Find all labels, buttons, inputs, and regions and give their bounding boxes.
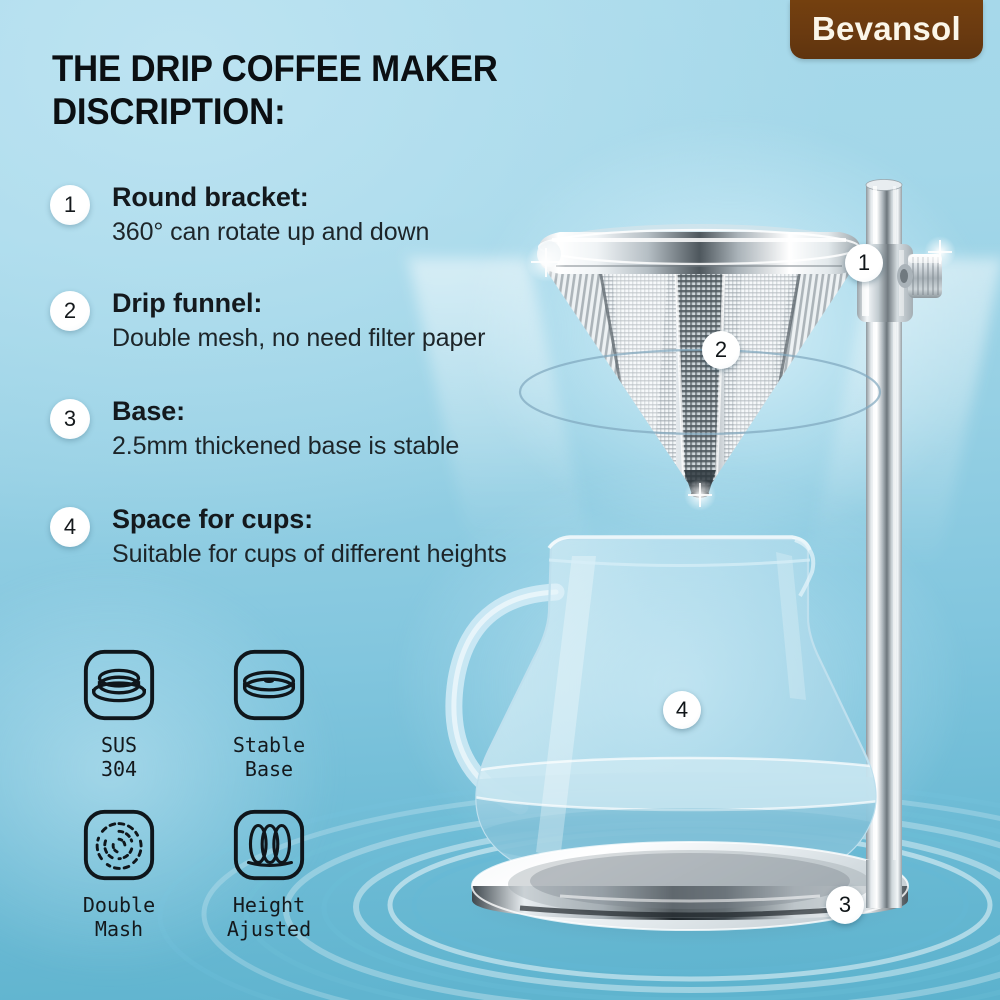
mesh-screen-icon [80, 806, 158, 884]
feature-description: Double mesh, no need filter paper [112, 323, 668, 353]
feature-title: Space for cups: [112, 504, 668, 536]
spec-badge-stable-base: Stable Base [194, 646, 344, 782]
feature-number-badge: 1 [50, 185, 90, 225]
feature-item-drip-funnel: 2 Drip funnel: Double mesh, no need filt… [48, 288, 668, 372]
spec-badge-height-ajusted: Height Ajusted [194, 806, 344, 942]
spec-badge-double-mash: Double Mash [44, 806, 194, 942]
spec-label: Height Ajusted [227, 893, 311, 942]
callout-marker-base: 3 [826, 886, 864, 924]
light-beam-right [807, 258, 1000, 568]
flat-disc-icon [230, 646, 308, 724]
brand-badge: Bevansol [790, 0, 983, 59]
feature-item-space-for-cups: 4 Space for cups: Suitable for cups of d… [48, 504, 668, 588]
stacked-disc-icon [80, 646, 158, 724]
feature-item-round-bracket: 1 Round bracket: 360° can rotate up and … [48, 182, 668, 266]
spec-label: Stable Base [233, 733, 305, 782]
spec-badge-sus-304: SUS 304 [44, 646, 194, 782]
feature-title: Round bracket: [112, 182, 668, 214]
callout-marker-drip-funnel: 2 [702, 331, 740, 369]
page-title: THE DRIP COFFEE MAKER DISCRIPTION: [52, 48, 635, 134]
feature-description: 2.5mm thickened base is stable [112, 431, 668, 461]
support-pole [866, 180, 902, 906]
feature-title: Drip funnel: [112, 288, 668, 320]
spec-badge-grid: SUS 304 Stable Base [44, 646, 344, 942]
feature-number-badge: 3 [50, 399, 90, 439]
feature-item-base: 3 Base: 2.5mm thickened base is stable [48, 396, 668, 480]
callout-marker-glass-carafe: 4 [663, 691, 701, 729]
feature-number-badge: 4 [50, 507, 90, 547]
pole-foot [866, 860, 902, 908]
callout-marker-round-bracket: 1 [845, 244, 883, 282]
feature-number-badge: 2 [50, 291, 90, 331]
feature-description: 360° can rotate up and down [112, 217, 668, 247]
feature-title: Base: [112, 396, 668, 428]
feature-description: Suitable for cups of different heights [112, 539, 668, 569]
infographic-page: Bevansol THE DRIP COFFEE MAKER DISCRIPTI… [0, 0, 1000, 1000]
spring-coil-icon [230, 806, 308, 884]
spec-label: Double Mash [83, 893, 155, 942]
feature-list: 1 Round bracket: 360° can rotate up and … [48, 182, 668, 610]
adjustment-knob [897, 254, 942, 298]
spec-label: SUS 304 [101, 733, 137, 782]
